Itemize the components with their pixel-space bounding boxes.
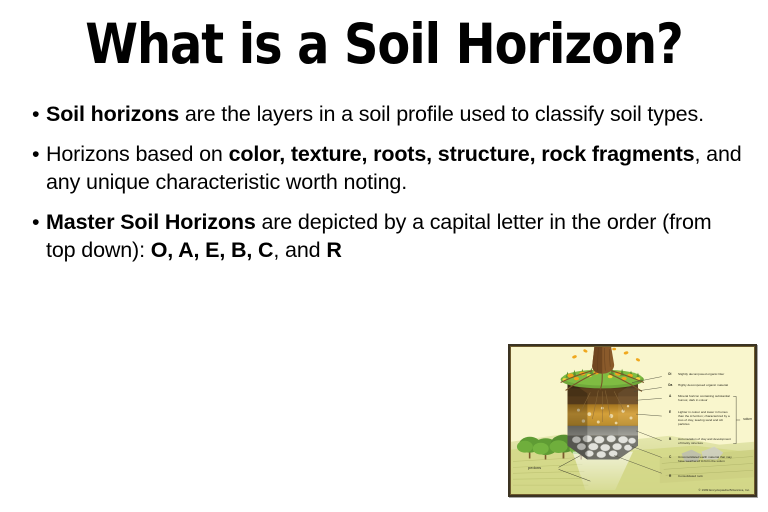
horizon-desc-oi: Slightly decomposed organic litter (678, 373, 750, 377)
horizon-key-r: R (669, 475, 671, 479)
horizon-key-c: C (669, 456, 671, 460)
bullet-text-bold: O, A, E, B, C (151, 238, 274, 262)
bullet-text: are the layers in a soil profile used to… (179, 102, 704, 126)
list-item: •Master Soil Horizons are depicted by a … (30, 208, 742, 265)
page-title: What is a Soil Horizon? (50, 6, 718, 82)
horizon-desc-e: Lighter in colour and lower in humus tha… (678, 411, 734, 427)
list-item: •Soil horizons are the layers in a soil … (30, 100, 742, 129)
bullet-list: •Soil horizons are the layers in a soil … (30, 100, 742, 276)
solum-label: solum (743, 417, 752, 421)
horizon-key-b: B (669, 438, 671, 442)
bullet-text-bold: R (326, 238, 341, 262)
copyright-credit: © 1999 Encyclopædia Britannica, Inc. (698, 488, 750, 492)
soil-profile-figure: Oi Oa A E B C R Slightly decomposed orga… (508, 344, 757, 497)
horizon-key-oa: Oa (668, 384, 672, 388)
horizon-desc-c: Unconsolidated earth material that may h… (678, 456, 734, 464)
horizon-desc-r: Consolidated rock (678, 475, 738, 479)
list-item: •Horizons based on color, texture, roots… (30, 140, 742, 197)
bullet-text-bold: color, texture, roots, structure, rock f… (229, 142, 695, 166)
pedons-label: pedons (528, 465, 541, 470)
horizon-key-a: A (669, 395, 671, 399)
bullet-glyph: • (32, 100, 39, 129)
horizon-key-oi: Oi (668, 373, 671, 377)
horizon-desc-oa: Highly decomposed organic material (678, 384, 752, 388)
horizon-desc-a: Mineral horizon containing substantial h… (678, 395, 734, 403)
figure-canvas: Oi Oa A E B C R Slightly decomposed orga… (510, 346, 755, 495)
bullet-glyph: • (32, 208, 39, 237)
horizon-key-e: E (669, 411, 671, 415)
bullet-text-bold: Master Soil Horizons (46, 210, 256, 234)
bullet-glyph: • (32, 140, 39, 169)
horizon-desc-b: Accumulation of clay and development of … (678, 438, 734, 446)
bullet-text-bold: Soil horizons (46, 102, 179, 126)
bullet-text: Horizons based on (46, 142, 229, 166)
bullet-text: , and (273, 238, 326, 262)
